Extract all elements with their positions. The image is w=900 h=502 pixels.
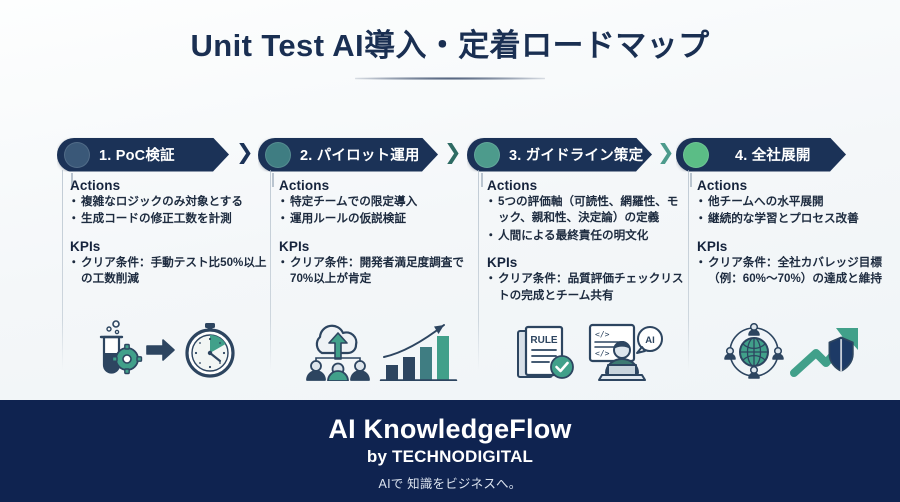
illustration-4: [697, 323, 897, 381]
column-divider-3: [688, 170, 689, 370]
list-item: 人間による最終責任の明文化: [487, 228, 687, 244]
list-item: 継続的な学習とプロセス改善: [697, 211, 897, 227]
illustration-3: RULE </> </>: [487, 323, 687, 381]
kpis-list-1: クリア条件：手動テスト比50%以上の工数削減: [70, 255, 270, 288]
step-dot-2: [265, 142, 291, 168]
title-divider: [355, 77, 545, 80]
kpis-heading-3: KPIs: [487, 255, 687, 270]
svg-text:</>: </>: [595, 330, 610, 339]
step-details-row: Actions 複雑なロジックのみ対象とする 生成コードの修正工数を計測 KPI…: [0, 178, 900, 383]
step-column-3: Actions 5つの評価軸（可読性、網羅性、モック、親和性、決定論）の定義 人…: [487, 178, 687, 383]
step-column-1: Actions 複雑なロジックのみ対象とする 生成コードの修正工数を計測 KPI…: [70, 178, 270, 383]
step-arrow-3-to-4: ❯: [657, 142, 675, 163]
actions-list-3: 5つの評価軸（可読性、網羅性、モック、親和性、決定論）の定義 人間による最終責任…: [487, 194, 687, 244]
cloud-team-bar-chart-growth-icon: [294, 315, 464, 381]
step-dot-1: [64, 142, 90, 168]
actions-list-4: 他チームへの水平展開 継続的な学習とプロセス改善: [697, 194, 897, 228]
list-item: 5つの評価軸（可読性、網羅性、モック、親和性、決定論）の定義: [487, 194, 687, 227]
list-item: 運用ルールの仮説検証: [279, 211, 479, 227]
svg-text:RULE: RULE: [530, 335, 558, 346]
step-arrow-1-to-2: ❯: [236, 142, 254, 163]
step-badge-label-4: 4. 全社展開: [735, 144, 811, 165]
test-tube-gear-arrow-stopwatch-icon: [95, 315, 245, 381]
global-network-growth-shield-icon: [712, 323, 882, 381]
actions-heading-1: Actions: [70, 178, 270, 193]
step-arrow-2-to-3: ❯: [444, 142, 462, 163]
kpis-list-4: クリア条件：全社カバレッジ目標（例：60%〜70%）の達成と維持: [697, 255, 897, 288]
step-badge-label-1: 1. PoC検証: [99, 144, 175, 165]
step-column-4: Actions 他チームへの水平展開 継続的な学習とプロセス改善 KPIs クリ…: [697, 178, 897, 383]
kpis-heading-1: KPIs: [70, 239, 270, 254]
list-item: 生成コードの修正工数を計測: [70, 211, 270, 227]
list-item: 複雑なロジックのみ対象とする: [70, 194, 270, 210]
column-divider-0: [62, 170, 63, 370]
step-dot-3: [474, 142, 500, 168]
page-header: Unit Test AI導入・定着ロードマップ: [0, 0, 900, 80]
step-badge-3[interactable]: 3. ガイドライン策定: [467, 133, 652, 173]
list-item: クリア条件：開発者満足度調査で70%以上が肯定: [279, 255, 479, 288]
step-column-2: Actions 特定チームでの限定導入 運用ルールの仮説検証 KPIs クリア条…: [279, 178, 479, 383]
column-divider-1: [270, 170, 271, 370]
list-item: クリア条件：手動テスト比50%以上の工数削減: [70, 255, 270, 288]
list-item: 他チームへの水平展開: [697, 194, 897, 210]
actions-heading-2: Actions: [279, 178, 479, 193]
list-item: 特定チームでの限定導入: [279, 194, 479, 210]
footer-brand-name: AI KnowledgeFlow: [0, 414, 900, 445]
step-badge-1[interactable]: 1. PoC検証: [57, 133, 229, 173]
actions-heading-3: Actions: [487, 178, 687, 193]
rule-document-check-developer-ai-icon: RULE </> </>: [502, 323, 672, 381]
list-item: クリア条件：品質評価チェックリストの完成とチーム共有: [487, 271, 687, 304]
illustration-2: [279, 315, 479, 381]
step-badge-label-3: 3. ガイドライン策定: [509, 144, 643, 165]
step-dot-4: [683, 142, 709, 168]
kpis-heading-4: KPIs: [697, 239, 897, 254]
kpis-heading-2: KPIs: [279, 239, 479, 254]
step-badge-label-2: 2. パイロット運用: [300, 144, 420, 165]
kpis-list-3: クリア条件：品質評価チェックリストの完成とチーム共有: [487, 271, 687, 304]
footer-company: by TECHNODIGITAL: [0, 447, 900, 467]
step-badges-row: 1. PoC検証 ❯ 2. パイロット運用 ❯ 3. ガイドライン策定 ❯ 4.…: [0, 133, 900, 173]
kpis-list-2: クリア条件：開発者満足度調査で70%以上が肯定: [279, 255, 479, 288]
step-badge-4[interactable]: 4. 全社展開: [676, 133, 846, 173]
actions-heading-4: Actions: [697, 178, 897, 193]
illustration-1: [70, 315, 270, 381]
roadmap-infographic: Unit Test AI導入・定着ロードマップ 1. PoC検証 ❯ 2. パイ…: [0, 0, 900, 502]
actions-list-1: 複雑なロジックのみ対象とする 生成コードの修正工数を計測: [70, 194, 270, 228]
footer-brand-bar: AI KnowledgeFlow by TECHNODIGITAL AIで 知識…: [0, 400, 900, 502]
list-item: クリア条件：全社カバレッジ目標（例：60%〜70%）の達成と維持: [697, 255, 897, 288]
svg-text:</>: </>: [595, 349, 610, 358]
actions-list-2: 特定チームでの限定導入 運用ルールの仮説検証: [279, 194, 479, 228]
step-badge-2[interactable]: 2. パイロット運用: [258, 133, 438, 173]
svg-text:AI: AI: [645, 335, 655, 346]
page-title: Unit Test AI導入・定着ロードマップ: [0, 27, 900, 64]
footer-tagline: AIで 知識をビジネスへ。: [0, 473, 900, 492]
